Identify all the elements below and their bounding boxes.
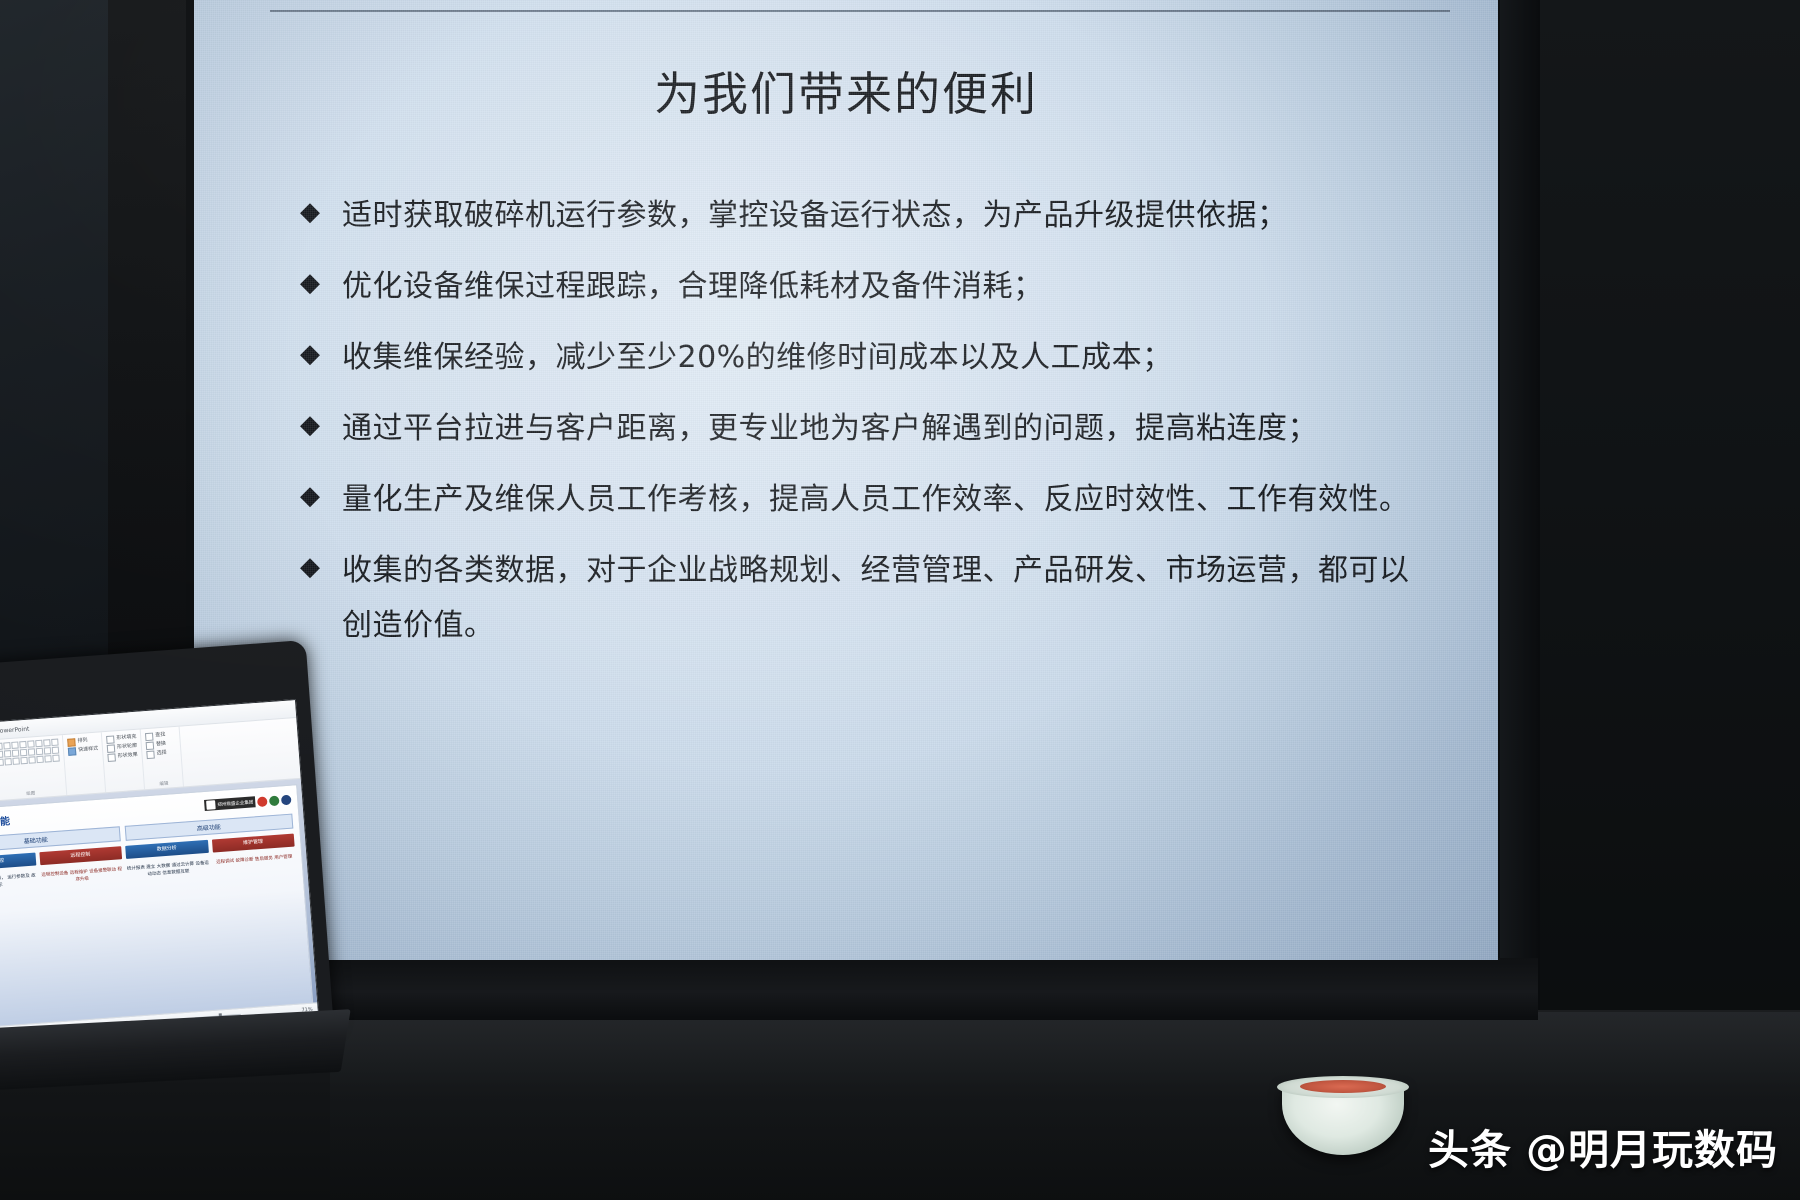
powerpoint-slide-canvas[interactable]: 三、实现功能 郑州鼎盛企业集团 <box>0 779 319 1043</box>
shape-cell-icon[interactable] <box>28 748 35 755</box>
quick-styles-icon <box>68 747 77 756</box>
company-logo-group: 郑州鼎盛企业集团 <box>204 794 292 811</box>
find-icon <box>145 732 154 741</box>
company-logo: 郑州鼎盛企业集团 <box>204 796 256 811</box>
list-item: ◆ 收集的各类数据，对于企业战略规划、经营管理、产品研发、市场运营，都可以创造价… <box>298 543 1438 653</box>
ribbon-item[interactable]: 选择 <box>146 748 177 759</box>
display-bezel-right <box>1500 0 1540 1010</box>
shape-outline-icon <box>107 744 116 753</box>
shape-effects-icon <box>108 753 117 762</box>
mini-box: 远程控制 <box>39 846 122 865</box>
list-item: ◆ 优化设备维保过程跟踪，合理降低耗材及备件消耗； <box>298 259 1438 314</box>
ribbon-group-editing[interactable]: 查找 替换 选择 编辑 <box>141 727 184 790</box>
bullet-text: 量化生产及维保人员工作考核，提高人员工作效率、反应时效性、工作有效性。 <box>342 472 1438 527</box>
list-item: ◆ 收集维保经验，减少至少20%的维修时间成本以及人工成本； <box>298 330 1438 385</box>
title-divider-rule <box>270 10 1450 12</box>
shape-cell-icon[interactable] <box>4 750 11 757</box>
diamond-bullet-icon: ◆ <box>298 188 342 236</box>
shape-cell-icon[interactable] <box>36 748 43 755</box>
ribbon-item-label: 选择 <box>156 749 167 759</box>
shape-cell-icon[interactable] <box>27 740 34 747</box>
ribbon-group-drawing[interactable]: 绘图 <box>0 735 67 800</box>
shape-cell-icon[interactable] <box>3 742 10 749</box>
bullet-text: 收集的各类数据，对于企业战略规划、经营管理、产品研发、市场运营，都可以创造价值。 <box>342 543 1438 653</box>
ribbon-item-label: 形状效果 <box>117 751 138 761</box>
diamond-bullet-icon: ◆ <box>298 259 342 307</box>
shape-gallery[interactable] <box>0 739 60 767</box>
shape-cell-icon[interactable] <box>0 743 3 750</box>
ribbon-group-shape-format[interactable]: 形状填充 形状轮廓 形状效果 <box>102 729 145 792</box>
mini-box: 维护管理 <box>211 834 294 853</box>
watermark-handle: @明月玩数码 <box>1526 1116 1778 1176</box>
replace-icon <box>146 741 155 750</box>
mini-box: 设备监控 <box>0 853 36 872</box>
bullet-text: 通过平台拉进与客户距离，更专业地为客户解遇到的问题，提高粘连度； <box>342 401 1438 456</box>
shape-cell-icon[interactable] <box>51 739 58 746</box>
shape-cell-icon[interactable] <box>13 757 20 764</box>
shape-cell-icon[interactable] <box>52 754 59 761</box>
list-item: ◆ 量化生产及维保人员工作考核，提高人员工作效率、反应时效性、工作有效性。 <box>298 472 1438 527</box>
shape-cell-icon[interactable] <box>52 747 59 754</box>
shape-cell-icon[interactable] <box>12 749 19 756</box>
watermark-brand: 头条 <box>1428 1116 1512 1176</box>
badge-icon-3 <box>281 794 292 805</box>
display-bezel-bottom <box>186 958 1538 1020</box>
shape-cell-icon[interactable] <box>35 740 42 747</box>
diamond-bullet-icon: ◆ <box>298 401 342 449</box>
mini-box: 数据分析 <box>125 840 208 859</box>
shape-cell-icon[interactable] <box>21 757 28 764</box>
select-icon <box>146 750 155 759</box>
shape-cell-icon[interactable] <box>43 739 50 746</box>
mini-subitem: 实时监控设备 运行状态， 运行参数及 故障显示 <box>0 871 37 893</box>
bullet-text: 适时获取破碎机运行参数，掌控设备运行状态，为产品升级提供依据； <box>342 188 1438 243</box>
list-item: ◆ 适时获取破碎机运行参数，掌控设备运行状态，为产品升级提供依据； <box>298 188 1438 243</box>
shape-cell-icon[interactable] <box>29 756 36 763</box>
slide-bullet-list: ◆ 适时获取破碎机运行参数，掌控设备运行状态，为产品升级提供依据； ◆ 优化设备… <box>298 188 1438 669</box>
shape-cell-icon[interactable] <box>5 758 12 765</box>
slide-title: 为我们带来的便利 <box>194 58 1498 124</box>
mini-subitem: 统计报表 建立 大数据 通过云计算 设备运动动态 信息数据互联 <box>126 858 209 880</box>
bowl-contents <box>1300 1080 1386 1093</box>
mini-subitem: 远程调试 故障诊断 售后服务 用户管理 <box>213 851 296 873</box>
shape-cell-icon[interactable] <box>20 749 27 756</box>
shape-cell-icon[interactable] <box>0 751 4 758</box>
ribbon-item[interactable]: 形状效果 <box>107 751 138 762</box>
diamond-bullet-icon: ◆ <box>298 472 342 520</box>
shape-cell-icon[interactable] <box>11 741 18 748</box>
ribbon-group-arrange[interactable]: 排列 快速样式 <box>63 732 106 795</box>
arrange-icon <box>67 738 76 747</box>
shape-cell-icon[interactable] <box>37 756 44 763</box>
logo-mark-icon <box>206 800 216 810</box>
laptop: 郑州鼎盛物联网介绍 - PowerPoint 文字方向 对齐文本 转换为 Sma… <box>0 652 366 1072</box>
shape-fill-icon <box>106 735 115 744</box>
diamond-bullet-icon: ◆ <box>298 330 342 378</box>
badge-icon-1 <box>257 796 268 807</box>
list-item: ◆ 通过平台拉进与客户距离，更专业地为客户解遇到的问题，提高粘连度； <box>298 401 1438 456</box>
mini-slide-heading: 三、实现功能 <box>0 812 10 831</box>
ribbon-item[interactable]: 快速样式 <box>68 745 99 756</box>
badge-icon-2 <box>269 795 280 806</box>
shape-cell-icon[interactable] <box>44 747 51 754</box>
projected-slide: 为我们带来的便利 ◆ 适时获取破碎机运行参数，掌控设备运行状态，为产品升级提供依… <box>194 0 1498 960</box>
watermark: 头条 @明月玩数码 <box>1428 1116 1778 1176</box>
shape-cell-icon[interactable] <box>0 759 4 766</box>
mini-slide: 三、实现功能 郑州鼎盛企业集团 <box>0 784 314 1043</box>
laptop-screen: 郑州鼎盛物联网介绍 - PowerPoint 文字方向 对齐文本 转换为 Sma… <box>0 699 319 1043</box>
shape-cell-icon[interactable] <box>19 741 26 748</box>
diamond-bullet-icon: ◆ <box>298 543 342 591</box>
bullet-text: 优化设备维保过程跟踪，合理降低耗材及备件消耗； <box>342 259 1438 314</box>
shape-cell-icon[interactable] <box>44 755 51 762</box>
company-logo-text-cn: 郑州鼎盛企业集团 <box>217 799 253 808</box>
screenshot-root: 为我们带来的便利 ◆ 适时获取破碎机运行参数，掌控设备运行状态，为产品升级提供依… <box>0 0 1800 1200</box>
room-left-highlight <box>0 0 108 690</box>
bullet-text: 收集维保经验，减少至少20%的维修时间成本以及人工成本； <box>342 330 1438 385</box>
ribbon-item-label: 快速样式 <box>78 745 99 755</box>
mini-subitem: 远程控制设备 远程维护 设备报警联动 程序升级 <box>40 864 123 886</box>
